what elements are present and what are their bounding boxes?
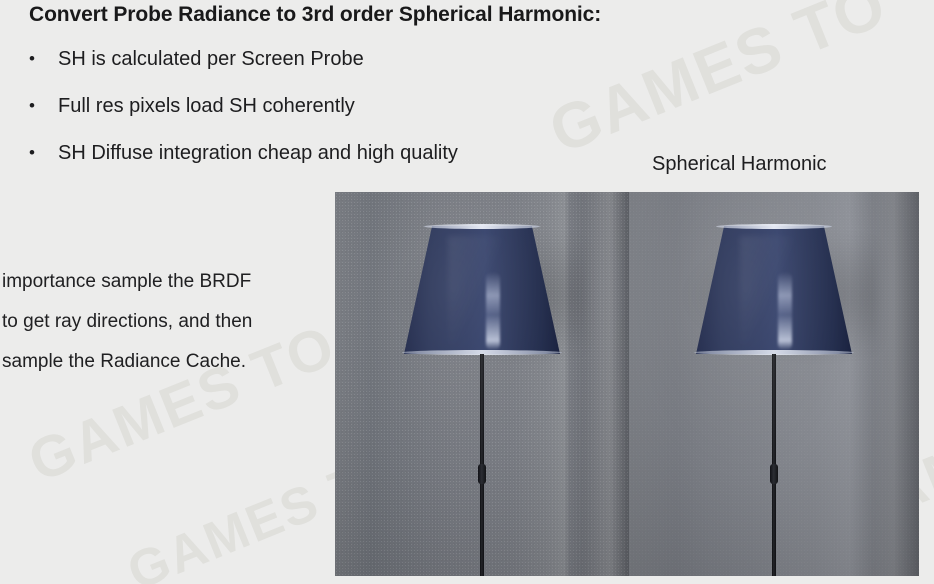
paragraph-line: sample the Radiance Cache.: [2, 342, 328, 382]
paragraph-line: to get ray directions, and then: [2, 302, 328, 342]
list-item: • Full res pixels load SH coherently: [22, 93, 642, 140]
wall-background: [629, 192, 919, 576]
bullet-text: SH Diffuse integration cheap and high qu…: [58, 140, 458, 166]
body-paragraph: importance sample the BRDF to get ray di…: [2, 262, 328, 382]
bullet-marker-icon: •: [22, 46, 58, 72]
figure-caption: Spherical Harmonic: [652, 153, 827, 176]
bullet-marker-icon: •: [22, 140, 58, 166]
list-item: • SH Diffuse integration cheap and high …: [22, 140, 642, 187]
bullet-list: • SH is calculated per Screen Probe • Fu…: [22, 46, 642, 187]
bullet-text: Full res pixels load SH coherently: [58, 93, 355, 119]
figure-lamp-comparison: [335, 192, 919, 576]
bullet-marker-icon: •: [22, 93, 58, 119]
figure-panel-left: [335, 192, 629, 576]
slide-canvas: GAMES TO GAMES TO GAMES TO GAMES TO GAME…: [0, 0, 934, 584]
slide-title: Convert Probe Radiance to 3rd order Sphe…: [29, 3, 601, 27]
bullet-text: SH is calculated per Screen Probe: [58, 46, 364, 72]
figure-panel-right: [629, 192, 919, 576]
list-item: • SH is calculated per Screen Probe: [22, 46, 642, 93]
wall-background: [335, 192, 629, 576]
paragraph-line: importance sample the BRDF: [2, 262, 328, 302]
